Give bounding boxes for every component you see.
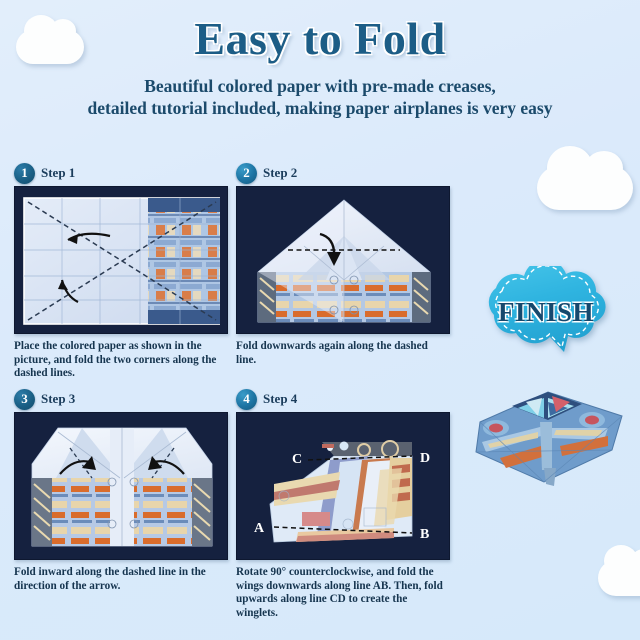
step-1-number-badge: 1 xyxy=(14,163,35,184)
step-4-point-label-d: D xyxy=(420,451,430,466)
step-2-label: Step 2 xyxy=(263,165,297,181)
step-card-2: 2 Step 2 xyxy=(236,160,450,367)
finished-paper-airplane xyxy=(452,378,638,504)
cloud-decoration-bottom-right xyxy=(598,560,640,596)
step-3-header: 3 Step 3 xyxy=(14,386,228,412)
finish-badge[interactable] xyxy=(462,266,630,358)
step-1-diagram xyxy=(22,194,220,326)
step-4-caption: Rotate 90° counterclockwise, and fold th… xyxy=(236,566,450,621)
step-3-photo xyxy=(14,412,228,560)
step-1-label: Step 1 xyxy=(41,165,75,181)
step-4-label: Step 4 xyxy=(263,391,297,407)
step-1-photo xyxy=(14,186,228,334)
subtitle-line-1: Beautiful colored paper with pre-made cr… xyxy=(8,75,632,97)
step-4-diagram: A B C D xyxy=(244,420,442,552)
step-1-header: 1 Step 1 xyxy=(14,160,228,186)
page-title: Easy to Fold xyxy=(0,0,640,65)
finish-bubble-shape xyxy=(489,266,606,352)
step-4-header: 4 Step 4 xyxy=(236,386,450,412)
step-1-caption: Place the colored paper as shown in the … xyxy=(14,340,228,381)
step-3-label: Step 3 xyxy=(41,391,75,407)
step-3-diagram xyxy=(22,420,220,552)
step-4-point-label-b: B xyxy=(420,527,429,542)
step-3-caption: Fold inward along the dashed line in the… xyxy=(14,566,228,593)
cloud-decoration-right xyxy=(537,166,633,210)
step-4-number-badge: 4 xyxy=(236,389,257,410)
page-subtitle: Beautiful colored paper with pre-made cr… xyxy=(0,75,640,120)
step-2-header: 2 Step 2 xyxy=(236,160,450,186)
step-2-caption: Fold downwards again along the dashed li… xyxy=(236,340,450,367)
step-2-photo xyxy=(236,186,450,334)
header: Easy to Fold Beautiful colored paper wit… xyxy=(0,0,640,120)
step-4-point-label-c: C xyxy=(292,452,302,467)
step-3-number-badge: 3 xyxy=(14,389,35,410)
step-2-number-badge: 2 xyxy=(236,163,257,184)
step-4-photo: A B C D xyxy=(236,412,450,560)
subtitle-line-2: detailed tutorial included, making paper… xyxy=(8,97,632,119)
step-card-1: 1 Step 1 xyxy=(14,160,228,381)
step-card-3: 3 Step 3 xyxy=(14,386,228,593)
step-2-diagram xyxy=(244,194,442,326)
step-card-4: 4 Step 4 xyxy=(236,386,450,621)
step-4-point-label-a: A xyxy=(254,521,265,536)
